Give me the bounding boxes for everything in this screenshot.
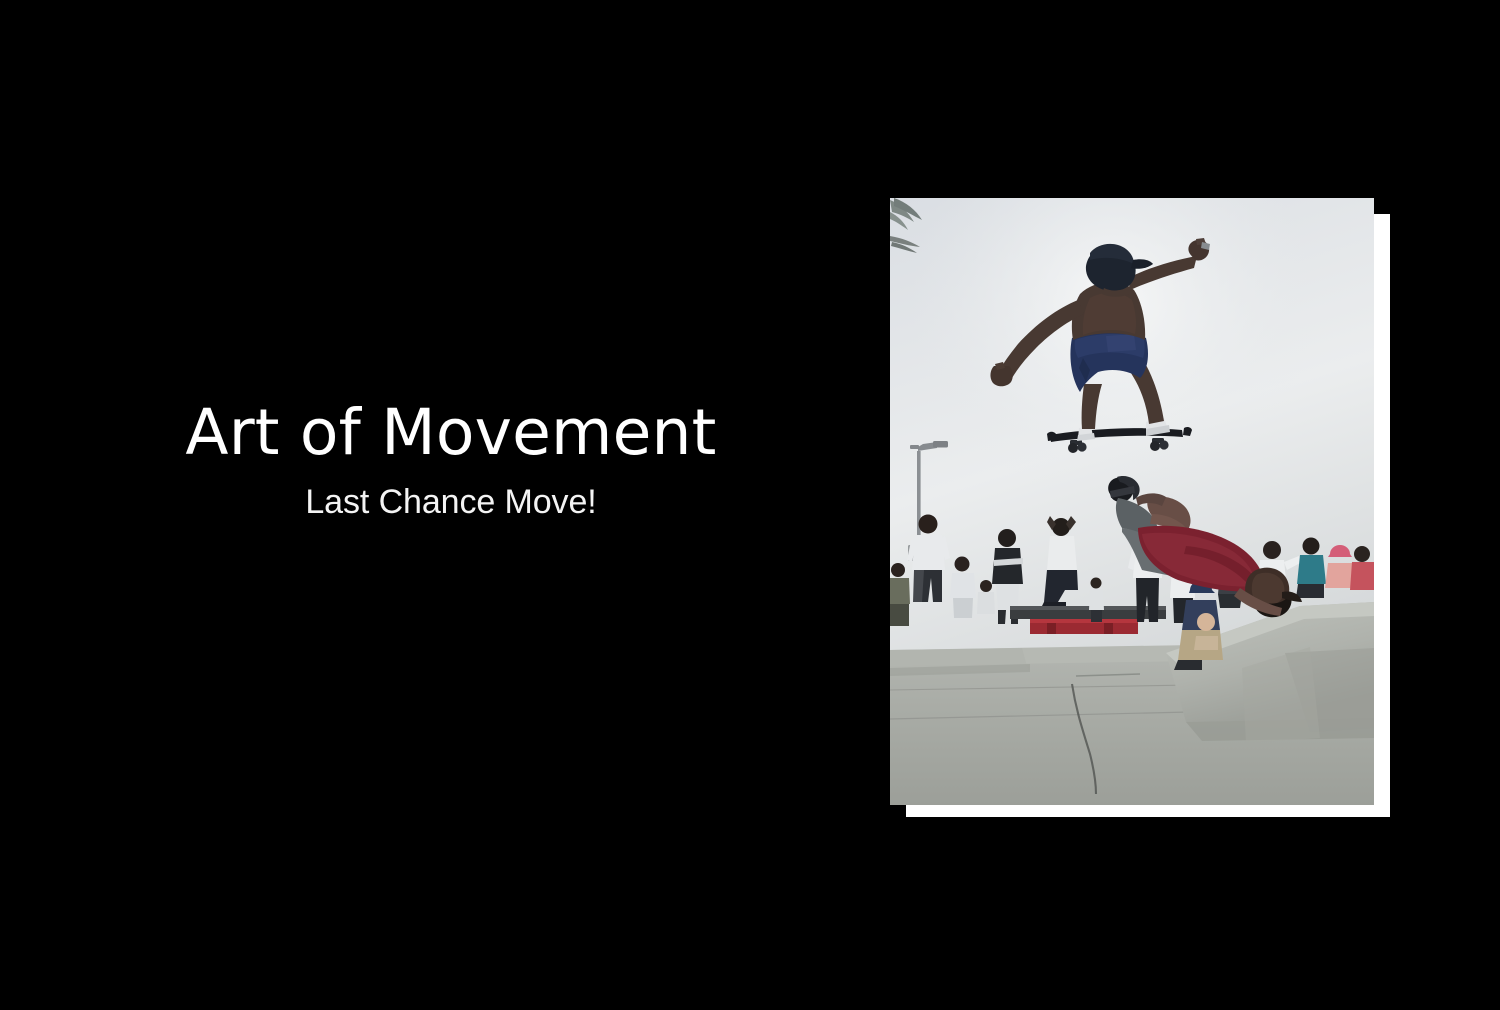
- slide-text-block: Art of Movement Last Chance Move!: [0, 398, 880, 522]
- slide-canvas: Art of Movement Last Chance Move!: [0, 0, 1500, 1010]
- page-title: Art of Movement: [0, 398, 880, 469]
- slide-subtitle: Last Chance Move!: [0, 482, 880, 523]
- skatepark-action-photo: [890, 198, 1374, 805]
